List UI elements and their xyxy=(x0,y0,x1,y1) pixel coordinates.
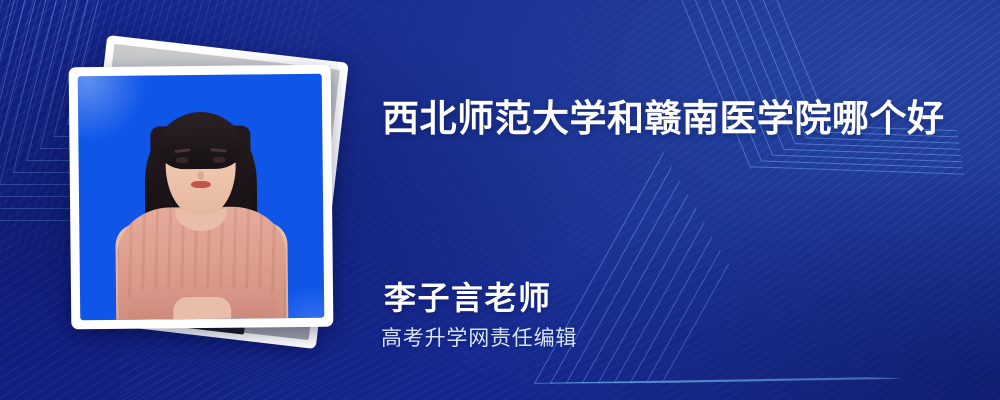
author-name: 李子言老师 xyxy=(384,273,552,319)
portrait-photo xyxy=(78,74,325,321)
page-title: 西北师范大学和赣南医学院哪个好 xyxy=(382,96,982,142)
portrait-photo-card-icon xyxy=(69,65,334,330)
banner-canvas: 西北师范大学和赣南医学院哪个好 李子言老师 高考升学网责任编辑 xyxy=(0,0,1000,400)
author-role: 高考升学网责任编辑 xyxy=(381,322,577,352)
portrait-figure xyxy=(78,74,325,321)
avatar xyxy=(52,42,352,352)
